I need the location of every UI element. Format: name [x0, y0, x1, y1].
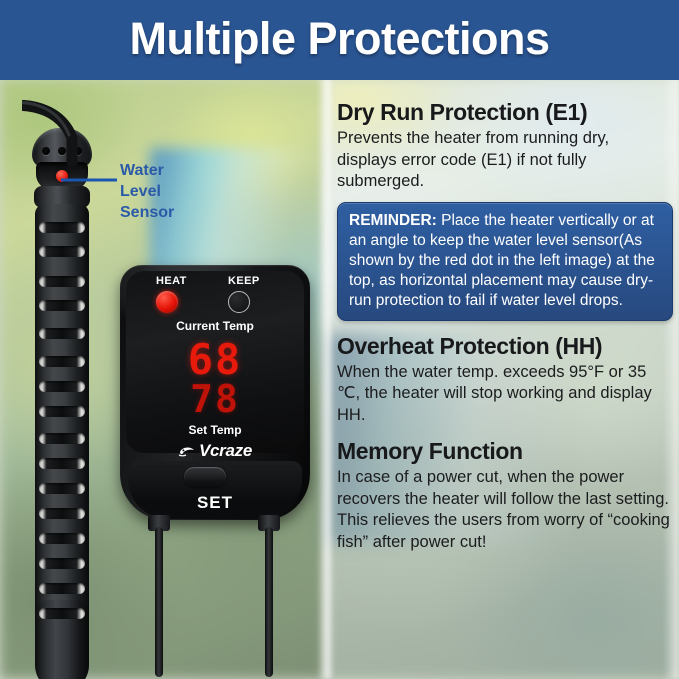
- heater-vent-slot: [39, 276, 85, 287]
- section-body: In case of a power cut, when the power r…: [337, 467, 673, 553]
- heater-vent-slot: [39, 508, 85, 519]
- power-cable-left: [155, 527, 163, 677]
- section-heading: Dry Run Protection (E1): [337, 98, 673, 126]
- heater-vent-slot: [39, 433, 85, 444]
- heater-vent-slot: [39, 381, 85, 392]
- current-temp-label: Current Temp: [126, 319, 304, 333]
- temperature-controller: HEAT KEEP Current Temp 68 78 Set Temp Vc…: [120, 265, 320, 535]
- panel-divider: [318, 78, 334, 679]
- section-overheat: Overheat Protection (HH) When the water …: [337, 332, 673, 427]
- callout-label: Water Level Sensor: [120, 160, 230, 223]
- set-button-label: SET: [120, 493, 310, 513]
- set-temp-value: 78: [126, 377, 304, 421]
- heater-vent-slot: [39, 328, 85, 339]
- water-level-sensor-callout: Water Level Sensor: [55, 160, 285, 230]
- brand-name: Vcraze: [199, 441, 252, 460]
- page-title: Multiple Protections: [0, 8, 679, 70]
- callout-line-1: Water: [120, 160, 230, 181]
- heater-vent-slot: [39, 483, 85, 494]
- callout-line-2: Level: [120, 181, 230, 202]
- controller-display-panel: HEAT KEEP Current Temp 68 78 Set Temp: [126, 271, 304, 453]
- reminder-text: REMINDER: Place the heater vertically or…: [349, 211, 661, 311]
- set-temp-label: Set Temp: [126, 423, 304, 437]
- reminder-callout-box: REMINDER: Place the heater vertically or…: [337, 202, 673, 321]
- keep-indicator-label: KEEP: [228, 275, 260, 287]
- section-dry-run: Dry Run Protection (E1) Prevents the hea…: [337, 98, 673, 193]
- features-panel: Dry Run Protection (E1) Prevents the hea…: [337, 98, 673, 553]
- power-cable-right: [265, 527, 273, 677]
- section-heading: Memory Function: [337, 437, 673, 465]
- heater-vent-slot: [39, 246, 85, 257]
- header-banner: Multiple Protections: [0, 0, 679, 80]
- heat-led-icon: [156, 291, 178, 313]
- heater-vent-slot: [39, 406, 85, 417]
- heater-vent-slot: [39, 533, 85, 544]
- section-body: Prevents the heater from running dry, di…: [337, 128, 673, 193]
- section-heading: Overheat Protection (HH): [337, 332, 673, 360]
- heater-vent-slot: [39, 558, 85, 569]
- heat-indicator-label: HEAT: [156, 275, 187, 287]
- brand-logo: Vcraze: [120, 441, 310, 461]
- heater-vent-slot: [39, 300, 85, 311]
- heater-vent-slot: [39, 356, 85, 367]
- reminder-label: REMINDER:: [349, 212, 437, 229]
- callout-line-3: Sensor: [120, 202, 230, 223]
- heater-vent-slot: [39, 608, 85, 619]
- infographic-page: Multiple Protections: [0, 0, 679, 679]
- section-memory: Memory Function In case of a power cut, …: [337, 437, 673, 553]
- keep-led-icon: [228, 291, 250, 313]
- section-body: When the water temp. exceeds 95°F or 35 …: [337, 362, 673, 427]
- set-button[interactable]: [184, 467, 226, 487]
- heater-vent-slot: [39, 458, 85, 469]
- heater-vent-slot: [39, 583, 85, 594]
- fish-logo-icon: [178, 445, 196, 458]
